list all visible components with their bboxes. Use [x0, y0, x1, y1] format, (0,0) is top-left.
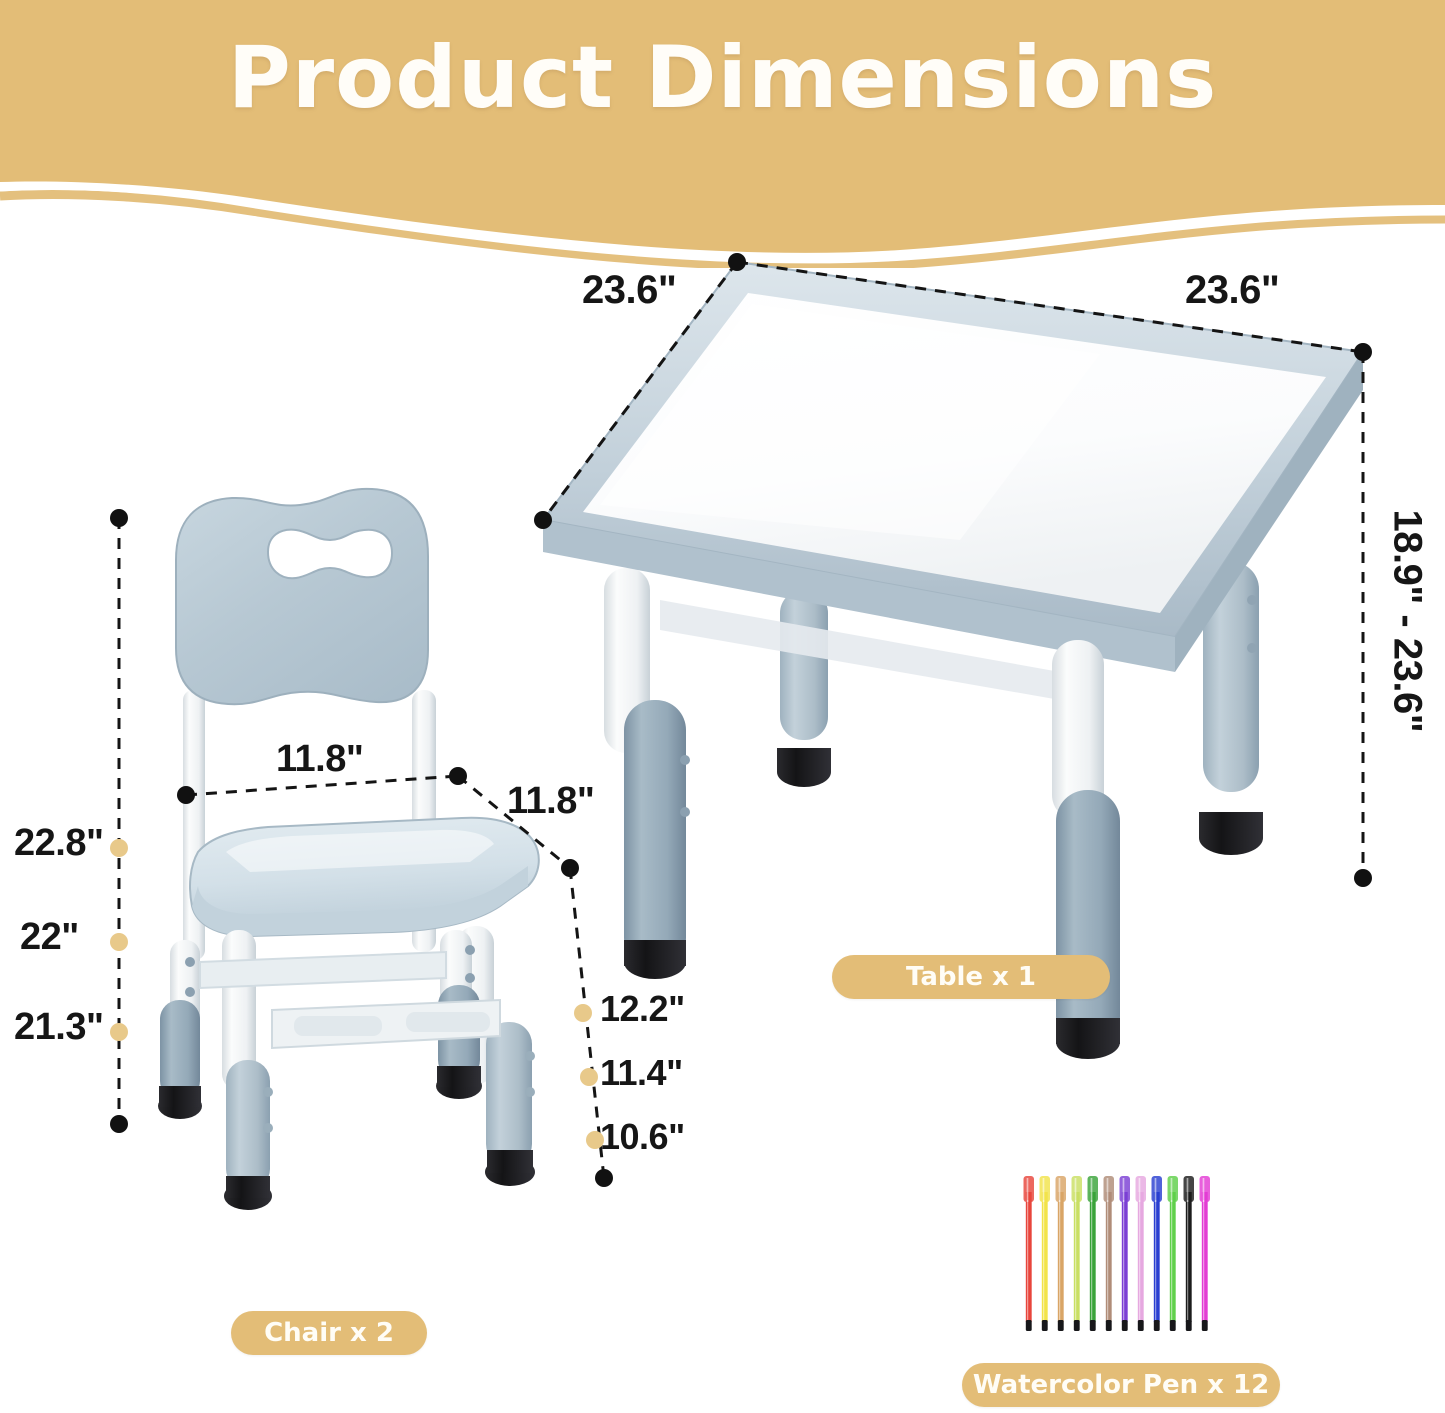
chair-leg-rear-right: [436, 930, 482, 1099]
chair-seat-lip: [192, 866, 528, 936]
watercolor-pen: [1072, 1176, 1083, 1331]
seat-height-tick-12-2: [574, 1004, 592, 1022]
table-height-label: 18.9" - 23.6": [1385, 510, 1430, 730]
table-dimension-dots: [534, 253, 1372, 887]
watercolor-pen: [1040, 1176, 1051, 1331]
height-tick-22-8: [110, 839, 128, 857]
watercolor-pen: [1200, 1176, 1211, 1331]
chair-seat-height-min-label: 10.6": [600, 1116, 685, 1158]
table-right-edge-label: 23.6": [1185, 268, 1279, 313]
watercolor-pen: [1024, 1176, 1035, 1331]
header-banner: Product Dimensions: [0, 0, 1445, 260]
table-top-surface: [583, 293, 1326, 613]
pen-count-badge: Watercolor Pen x 12: [962, 1363, 1280, 1407]
watercolor-pen: [1168, 1176, 1179, 1331]
table-apron: [660, 600, 1060, 700]
table-top-surface-highlight: [600, 304, 1100, 540]
chair-seat-highlight: [226, 830, 494, 872]
chair-back-post-left: [183, 690, 205, 960]
table-leg-back-left: [604, 568, 690, 979]
watercolor-pen: [1184, 1176, 1195, 1331]
infographic-canvas: Product Dimensions: [0, 0, 1445, 1413]
watercolor-pen: [1136, 1176, 1147, 1331]
chair-leg-front-right: [458, 926, 535, 1186]
watercolor-pen: [1088, 1176, 1099, 1331]
table-top: [543, 262, 1363, 672]
watercolor-pen: [1104, 1176, 1115, 1331]
page-title: Product Dimensions: [0, 28, 1445, 128]
table-count-badge: Table x 1: [832, 955, 1110, 999]
chair-stretcher-bar: [272, 1000, 500, 1048]
chair-seat-height-mid-label: 11.4": [600, 1052, 683, 1094]
chair-count-badge: Chair x 2: [231, 1311, 427, 1355]
chair-backrest-handle-cutout: [268, 530, 392, 579]
table-left-edge-label: 23.6": [582, 268, 676, 313]
watercolor-pen: [1152, 1176, 1163, 1331]
chair-seat-height-dim-line: [570, 868, 604, 1178]
height-tick-22: [110, 933, 128, 951]
table-leg-back-right: [777, 590, 831, 787]
chair-back-post-right: [412, 690, 436, 952]
height-tick-21-3: [110, 1023, 128, 1041]
watercolor-pen: [1120, 1176, 1131, 1331]
chair-seat-depth-label: 11.8": [507, 780, 594, 823]
table-illustration: [543, 262, 1363, 1059]
chair-seat: [190, 818, 539, 936]
table-dimension-lines: [543, 262, 1363, 878]
chair-leg-rear-left: [158, 940, 202, 1119]
chair-seat-height-markers: [574, 1004, 613, 1187]
chair-illustration: [158, 489, 539, 1210]
table-leg-front-right: [1199, 562, 1263, 855]
watercolor-pens: [1022, 1176, 1214, 1332]
table-top-edge: [543, 262, 1363, 637]
watercolor-pen: [1056, 1176, 1067, 1331]
chair-seat-height-max-label: 12.2": [600, 988, 685, 1030]
seat-height-tick-11-4: [580, 1068, 598, 1086]
chair-height-min-label: 21.3": [14, 1006, 103, 1049]
chair-leg-front-left: [222, 930, 273, 1210]
chair-seat-width-label: 11.8": [276, 738, 363, 781]
chair-rear-stretcher: [200, 952, 446, 988]
table-top-edge-thickness: [543, 520, 1175, 672]
chair-height-dim-markers: [110, 509, 128, 1133]
chair-backrest: [176, 489, 428, 704]
chair-height-max-label: 22.8": [14, 822, 103, 865]
table-top-edge-thickness-right: [1175, 352, 1363, 672]
chair-height-mid-label: 22": [20, 916, 79, 959]
